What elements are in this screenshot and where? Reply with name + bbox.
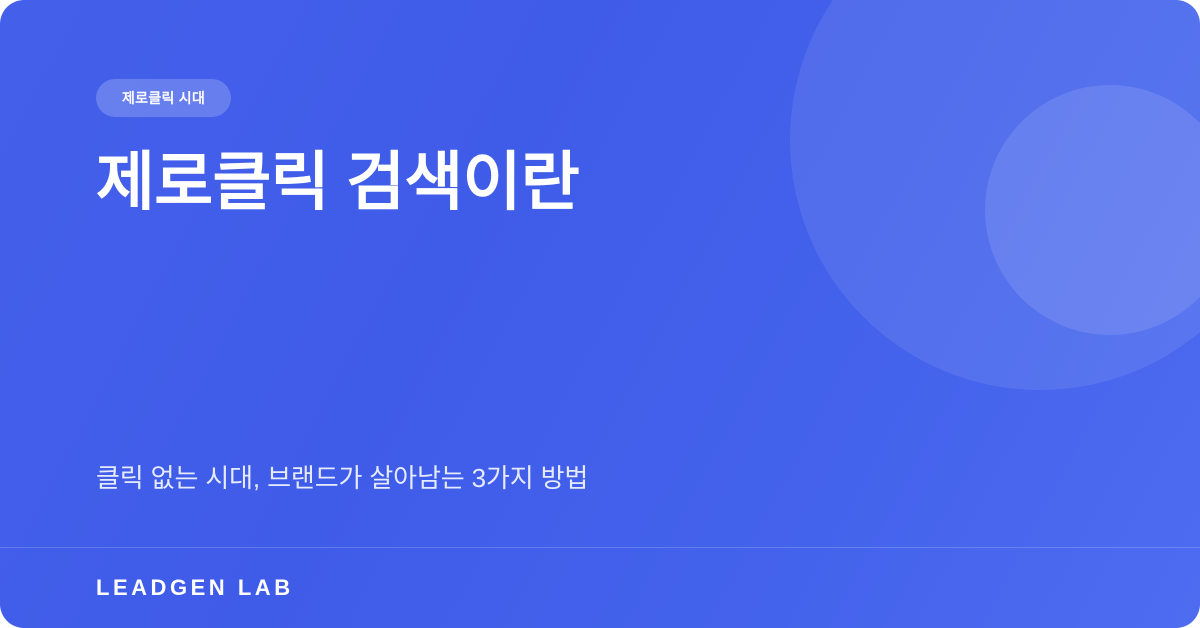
hero-content: 제로클릭 시대 제로클릭 검색이란 클릭 없는 시대, 브랜드가 살아남는 3가…: [0, 0, 1200, 628]
category-badge[interactable]: 제로클릭 시대: [96, 79, 231, 117]
page-title: 제로클릭 검색이란: [96, 117, 916, 219]
footer-bar: LEADGEN LAB: [96, 547, 294, 628]
content-spacer: [96, 219, 1104, 460]
hero-card: 제로클릭 시대 제로클릭 검색이란 클릭 없는 시대, 브랜드가 살아남는 3가…: [0, 0, 1200, 628]
brand-logo-text: LEADGEN LAB: [96, 575, 294, 601]
